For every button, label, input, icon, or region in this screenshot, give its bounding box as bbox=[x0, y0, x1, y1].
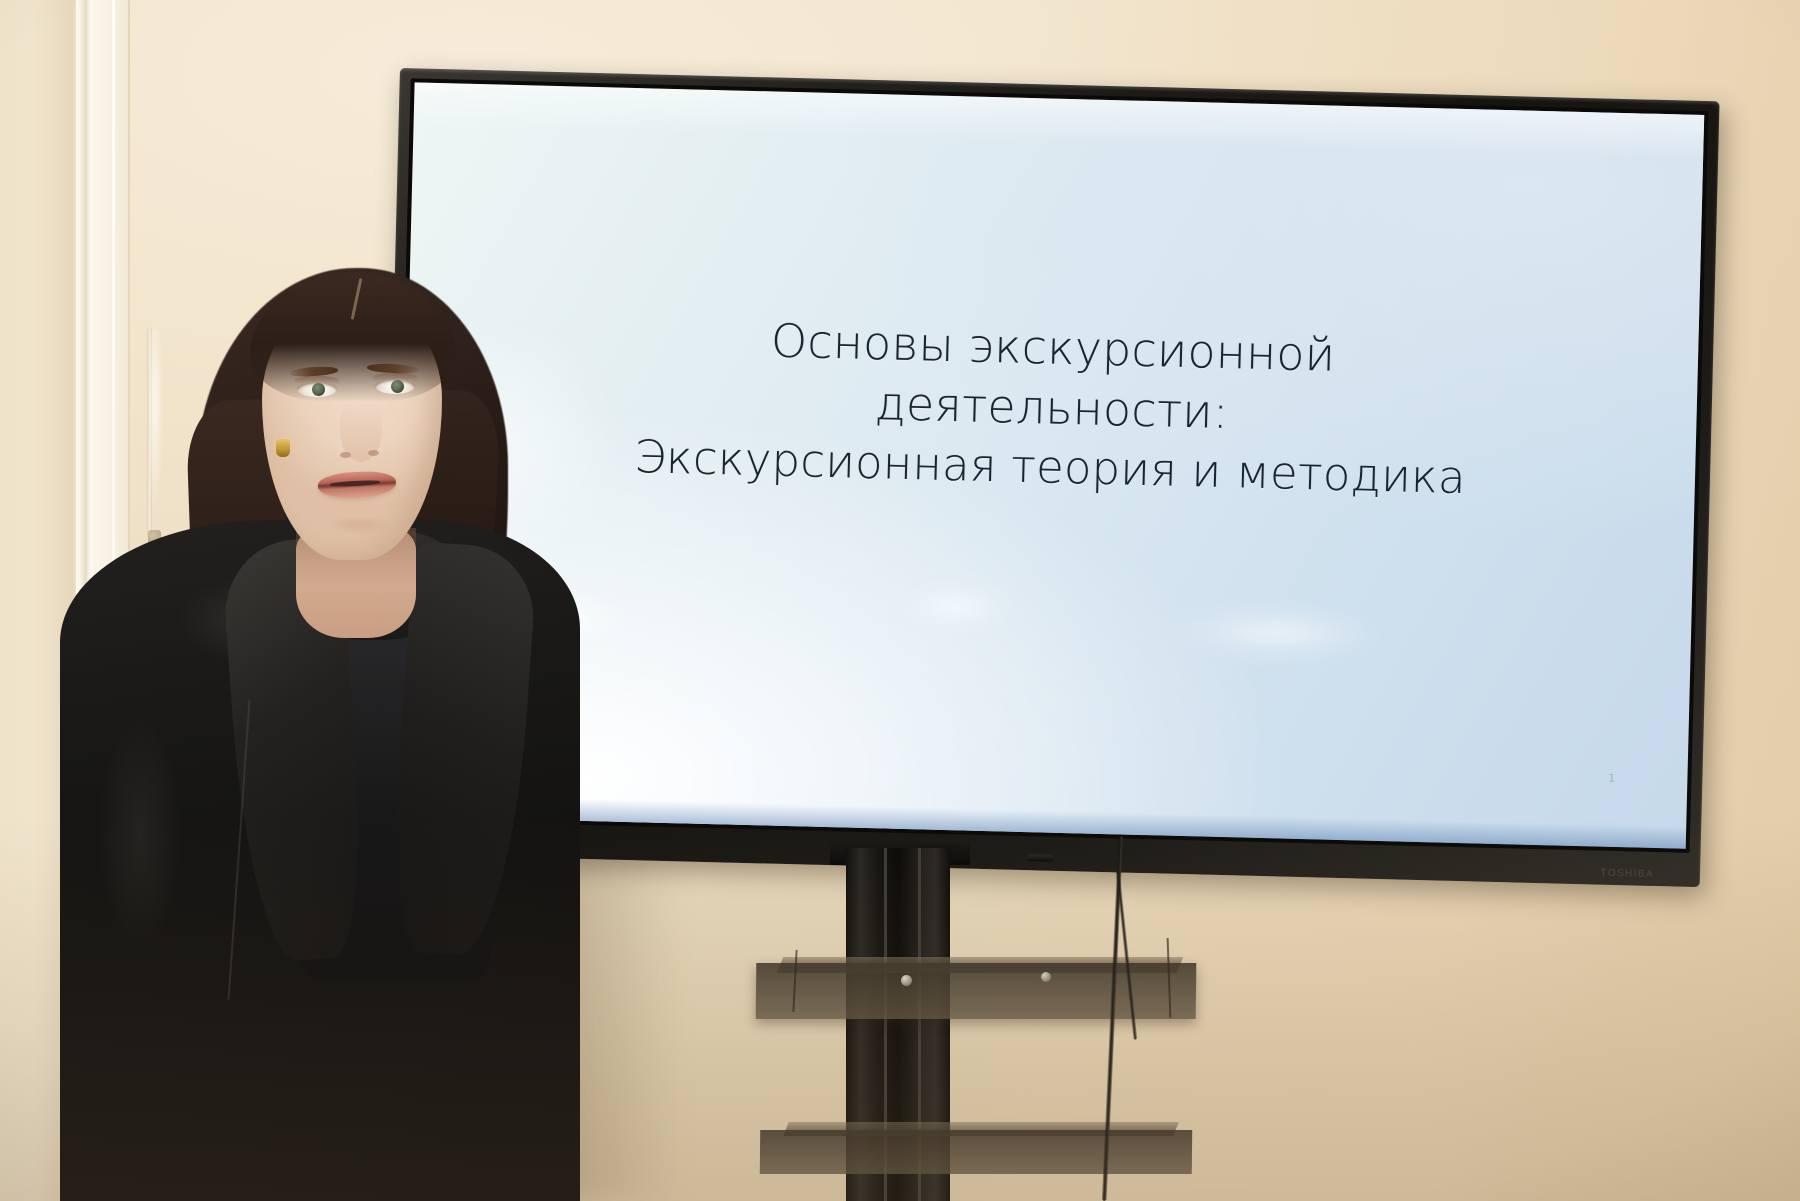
photo-stage: Основы экскурсионной деятельности: Экску… bbox=[0, 0, 1800, 1201]
presenter-eye-left bbox=[297, 382, 337, 397]
presenter-nostril-right bbox=[368, 450, 379, 456]
presenter-eye-right bbox=[375, 379, 415, 394]
presenter-chin-shadow bbox=[312, 516, 406, 538]
floor-shadow bbox=[0, 817, 1800, 1201]
presenter-eyelid-right bbox=[373, 373, 417, 381]
presenter-earring bbox=[276, 439, 290, 457]
presenter-eyelid-left bbox=[295, 376, 339, 384]
iris-left bbox=[312, 383, 325, 396]
presenter-nostril-left bbox=[340, 452, 351, 458]
iris-right bbox=[391, 380, 404, 393]
